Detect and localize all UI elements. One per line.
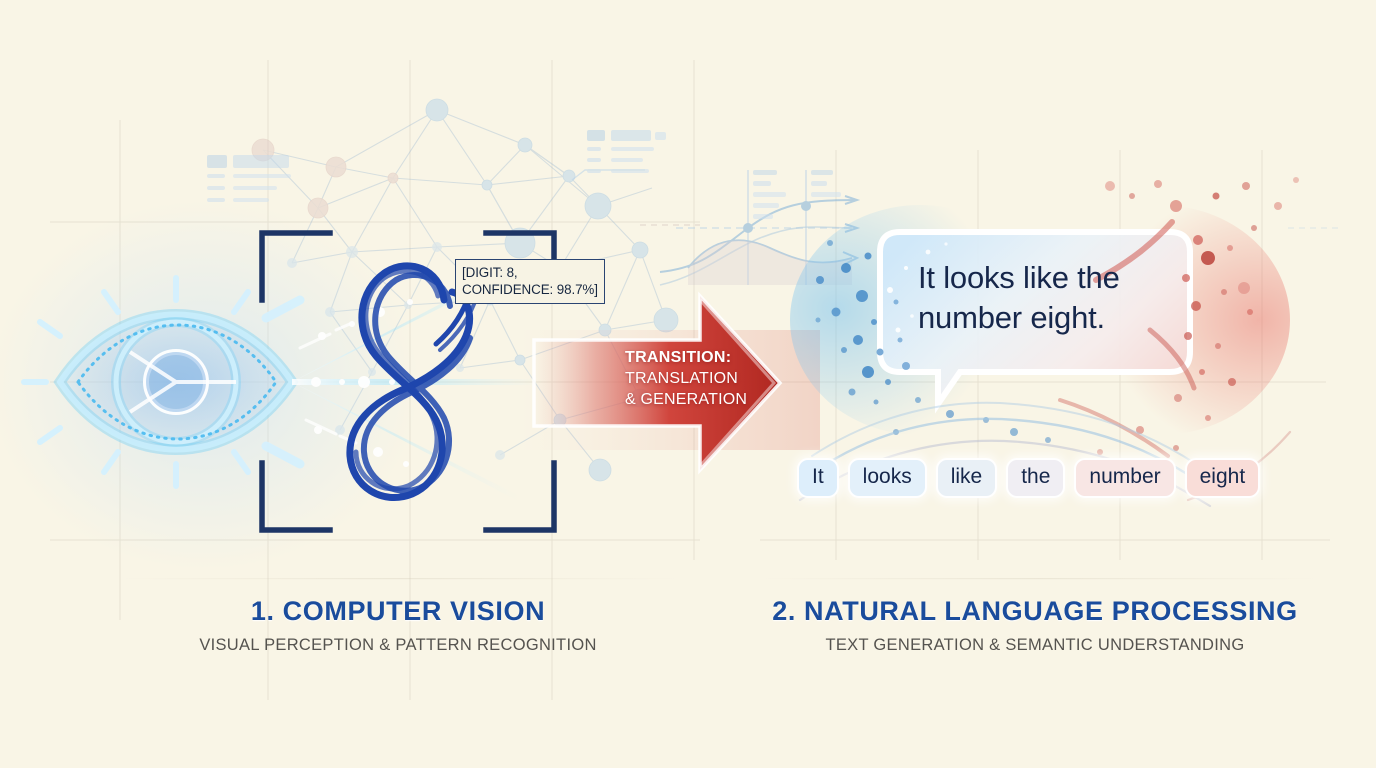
transition-line-2: TRANSLATION [625,368,795,389]
token-chip[interactable]: It [797,458,839,498]
speech-bubble-text: It looks like the number eight. [918,258,1188,338]
stage-caption-nlp: 2. NATURAL LANGUAGE PROCESSING TEXT GENE… [755,596,1315,655]
token-chip[interactable]: eight [1185,458,1261,498]
token-chip[interactable]: like [936,458,998,498]
token-chip[interactable]: the [1006,458,1065,498]
token-chip[interactable]: looks [848,458,927,498]
stage-subtitle-nlp: TEXT GENERATION & SEMANTIC UNDERSTANDING [755,636,1315,655]
stage-subtitle-vision: VISUAL PERCEPTION & PATTERN RECOGNITION [118,636,678,655]
readout-line-2: CONFIDENCE: 98.7%] [462,281,598,298]
transition-arrow-label: TRANSITION: TRANSLATION & GENERATION [625,347,795,410]
readout-line-1: [DIGIT: 8, [462,264,598,281]
stage-caption-vision: 1. COMPUTER VISION VISUAL PERCEPTION & P… [118,596,678,655]
token-chip-row: Itlookslikethenumbereight [797,458,1260,498]
token-chip[interactable]: number [1074,458,1175,498]
infographic-canvas: [DIGIT: 8, CONFIDENCE: 98.7%] TRANSITION… [0,0,1376,768]
transition-line-3: & GENERATION [625,389,795,410]
transition-line-1: TRANSITION: [625,347,795,368]
stage-title-nlp: 2. NATURAL LANGUAGE PROCESSING [755,596,1315,627]
stage-title-vision: 1. COMPUTER VISION [118,596,678,627]
digit-confidence-readout: [DIGIT: 8, CONFIDENCE: 98.7%] [455,259,605,304]
